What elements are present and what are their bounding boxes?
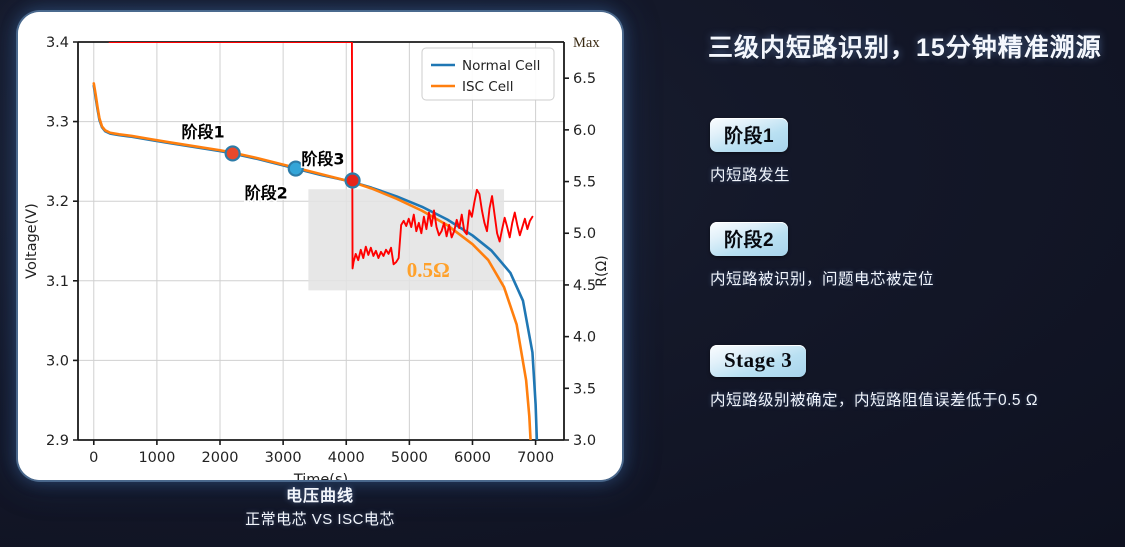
svg-text:5.5: 5.5 <box>573 175 596 191</box>
svg-text:6000: 6000 <box>454 450 491 466</box>
svg-text:4.0: 4.0 <box>573 330 596 346</box>
svg-text:1000: 1000 <box>138 450 175 466</box>
svg-text:3000: 3000 <box>265 450 302 466</box>
svg-text:3.0: 3.0 <box>573 433 596 449</box>
stage-badge-3: Stage 3 <box>710 345 806 377</box>
stage-badge-1: 阶段1 <box>710 118 788 152</box>
svg-text:3.4: 3.4 <box>46 35 69 51</box>
svg-text:3.1: 3.1 <box>46 274 69 290</box>
svg-text:Voltage(V): Voltage(V) <box>24 203 40 279</box>
page-title: 三级内短路识别，15分钟精准溯源 <box>708 28 1102 64</box>
svg-text:7000: 7000 <box>517 450 554 466</box>
svg-text:6.5: 6.5 <box>573 71 596 87</box>
stage-item-3: Stage 3 内短路级别被确定，内短路阻值误差低于0.5 Ω <box>710 345 1038 410</box>
svg-text:Normal Cell: Normal Cell <box>462 58 540 74</box>
svg-text:R(Ω): R(Ω) <box>594 255 610 286</box>
svg-text:5.0: 5.0 <box>573 226 596 242</box>
stage-item-2: 阶段2 内短路被识别，问题电芯被定位 <box>710 222 934 289</box>
stage-desc-3: 内短路级别被确定，内短路阻值误差低于0.5 Ω <box>710 388 1038 410</box>
svg-text:6.0: 6.0 <box>573 123 596 139</box>
svg-text:0.5Ω: 0.5Ω <box>407 258 450 282</box>
chart-legend: Normal CellISC Cell <box>422 48 554 100</box>
plot-area: 阶段1阶段2阶段3 0.5Ω 2.93.03.13.23.33.40100020… <box>18 12 622 480</box>
svg-text:阶段3: 阶段3 <box>301 150 344 169</box>
svg-text:Time(s): Time(s) <box>293 472 348 480</box>
svg-text:0: 0 <box>89 450 98 466</box>
voltage-chart-card: 阶段1阶段2阶段3 0.5Ω 2.93.03.13.23.33.40100020… <box>18 12 622 480</box>
stage-desc-1: 内短路发生 <box>710 163 790 185</box>
svg-text:阶段2: 阶段2 <box>245 184 288 203</box>
stage-badge-2: 阶段2 <box>710 222 788 256</box>
info-panel: 三级内短路识别，15分钟精准溯源 阶段1 内短路发生 阶段2 内短路被识别，问题… <box>700 0 1125 547</box>
stage-item-1: 阶段1 内短路发生 <box>710 118 790 185</box>
caption-title: 电压曲线 <box>18 486 622 508</box>
chart-svg: 阶段1阶段2阶段3 0.5Ω 2.93.03.13.23.33.40100020… <box>18 12 622 480</box>
stage-desc-2: 内短路被识别，问题电芯被定位 <box>710 267 934 289</box>
svg-text:4.5: 4.5 <box>573 278 596 294</box>
svg-text:3.2: 3.2 <box>46 194 69 210</box>
svg-text:Max: Max <box>573 35 600 51</box>
svg-text:2.9: 2.9 <box>46 433 69 449</box>
svg-text:ISC Cell: ISC Cell <box>462 79 514 95</box>
chart-caption: 电压曲线 正常电芯 VS ISC电芯 <box>18 486 622 532</box>
svg-text:阶段1: 阶段1 <box>181 122 224 141</box>
svg-text:3.3: 3.3 <box>46 115 69 131</box>
svg-text:4000: 4000 <box>328 450 365 466</box>
chart-annotations: 0.5Ω <box>407 258 450 282</box>
svg-text:3.5: 3.5 <box>573 381 596 397</box>
svg-text:3.0: 3.0 <box>46 353 69 369</box>
svg-text:2000: 2000 <box>202 450 239 466</box>
caption-subtitle: 正常电芯 VS ISC电芯 <box>18 508 622 532</box>
svg-text:5000: 5000 <box>391 450 428 466</box>
